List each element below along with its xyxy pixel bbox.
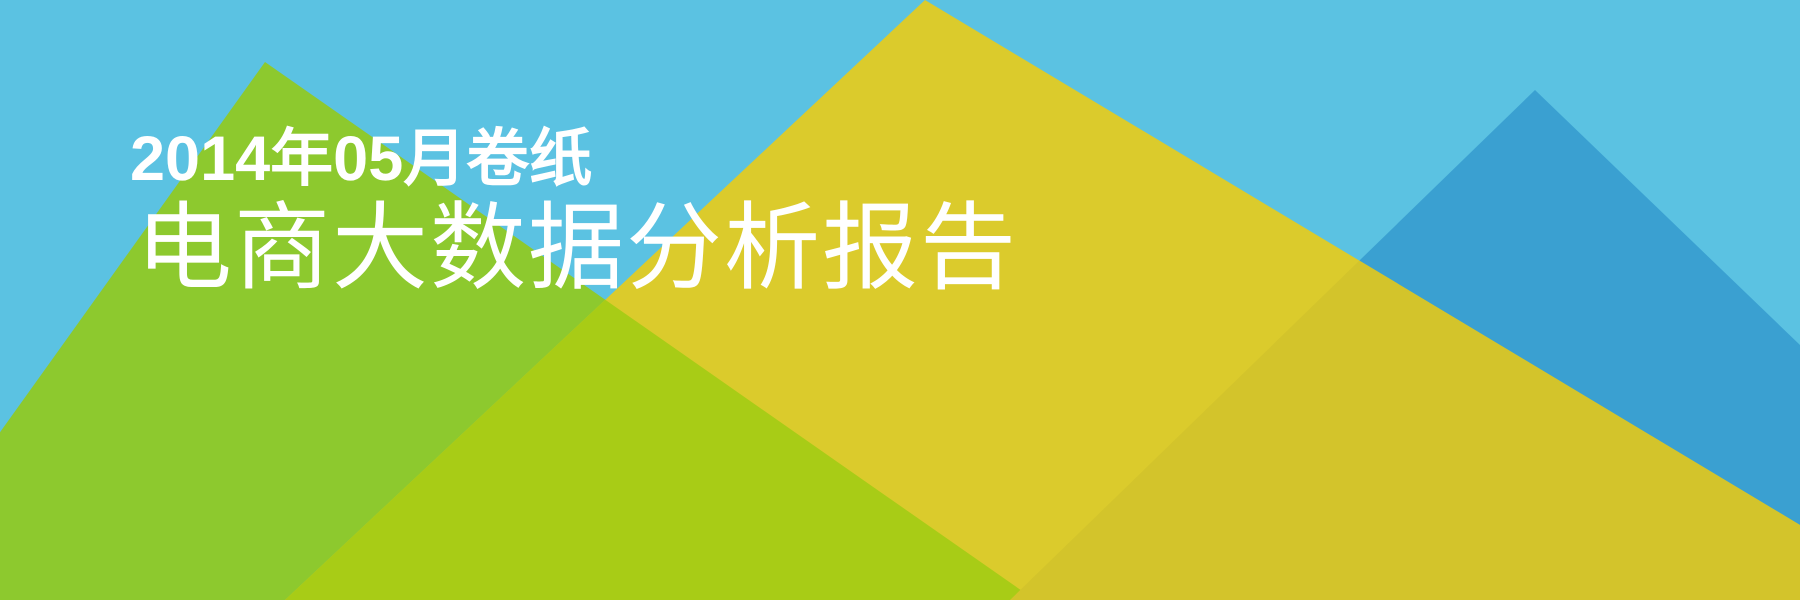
cover-slide: 2014年05月卷纸 电商大数据分析报告 [0,0,1800,600]
background-geometric-artwork [0,0,1800,600]
